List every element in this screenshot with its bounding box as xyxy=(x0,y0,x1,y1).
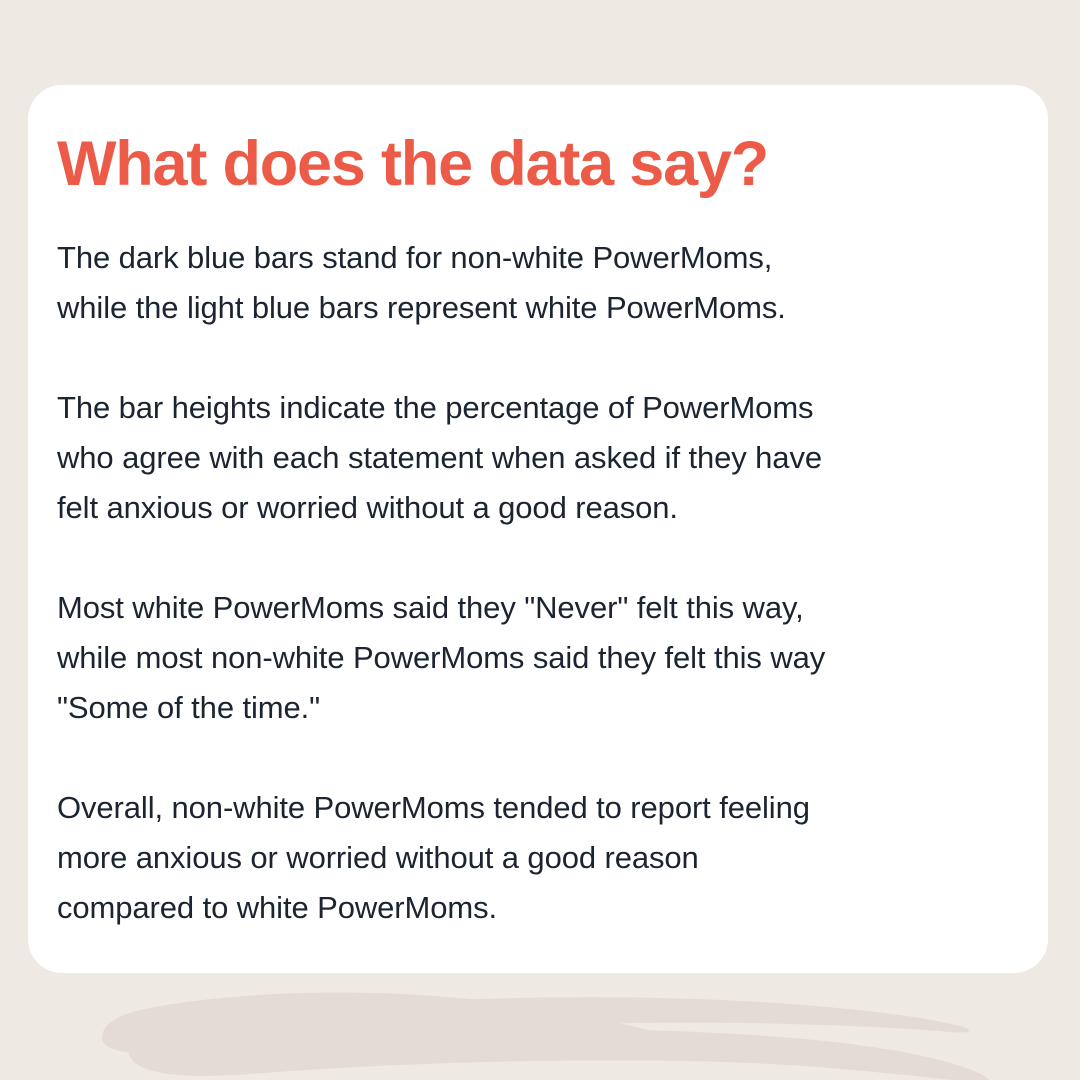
text-line: The dark blue bars stand for non-white P… xyxy=(57,233,1017,283)
text-line: compared to white PowerMoms. xyxy=(57,883,1017,933)
text-line: while most non-white PowerMoms said they… xyxy=(57,633,1017,683)
slide-canvas: What does the data say? The dark blue ba… xyxy=(0,0,1080,1080)
text-line: Most white PowerMoms said they "Never" f… xyxy=(57,583,1017,633)
page-title: What does the data say? xyxy=(57,133,768,196)
text-line: more anxious or worried without a good r… xyxy=(57,833,1017,883)
text-line: "Some of the time." xyxy=(57,683,1017,733)
paragraph-bar-height-explanation: The bar heights indicate the percentage … xyxy=(57,383,1017,533)
text-line: The bar heights indicate the percentage … xyxy=(57,383,1017,433)
paragraph-key-finding: Most white PowerMoms said they "Never" f… xyxy=(57,583,1017,733)
text-line: Overall, non-white PowerMoms tended to r… xyxy=(57,783,1017,833)
paragraph-legend-explanation: The dark blue bars stand for non-white P… xyxy=(57,233,1017,333)
text-line: who agree with each statement when asked… xyxy=(57,433,1017,483)
content-card: What does the data say? The dark blue ba… xyxy=(28,85,1048,973)
text-line: while the light blue bars represent whit… xyxy=(57,283,1017,333)
body-copy: The dark blue bars stand for non-white P… xyxy=(57,233,1017,933)
text-line: felt anxious or worried without a good r… xyxy=(57,483,1017,533)
paragraph-overall-takeaway: Overall, non-white PowerMoms tended to r… xyxy=(57,783,1017,933)
